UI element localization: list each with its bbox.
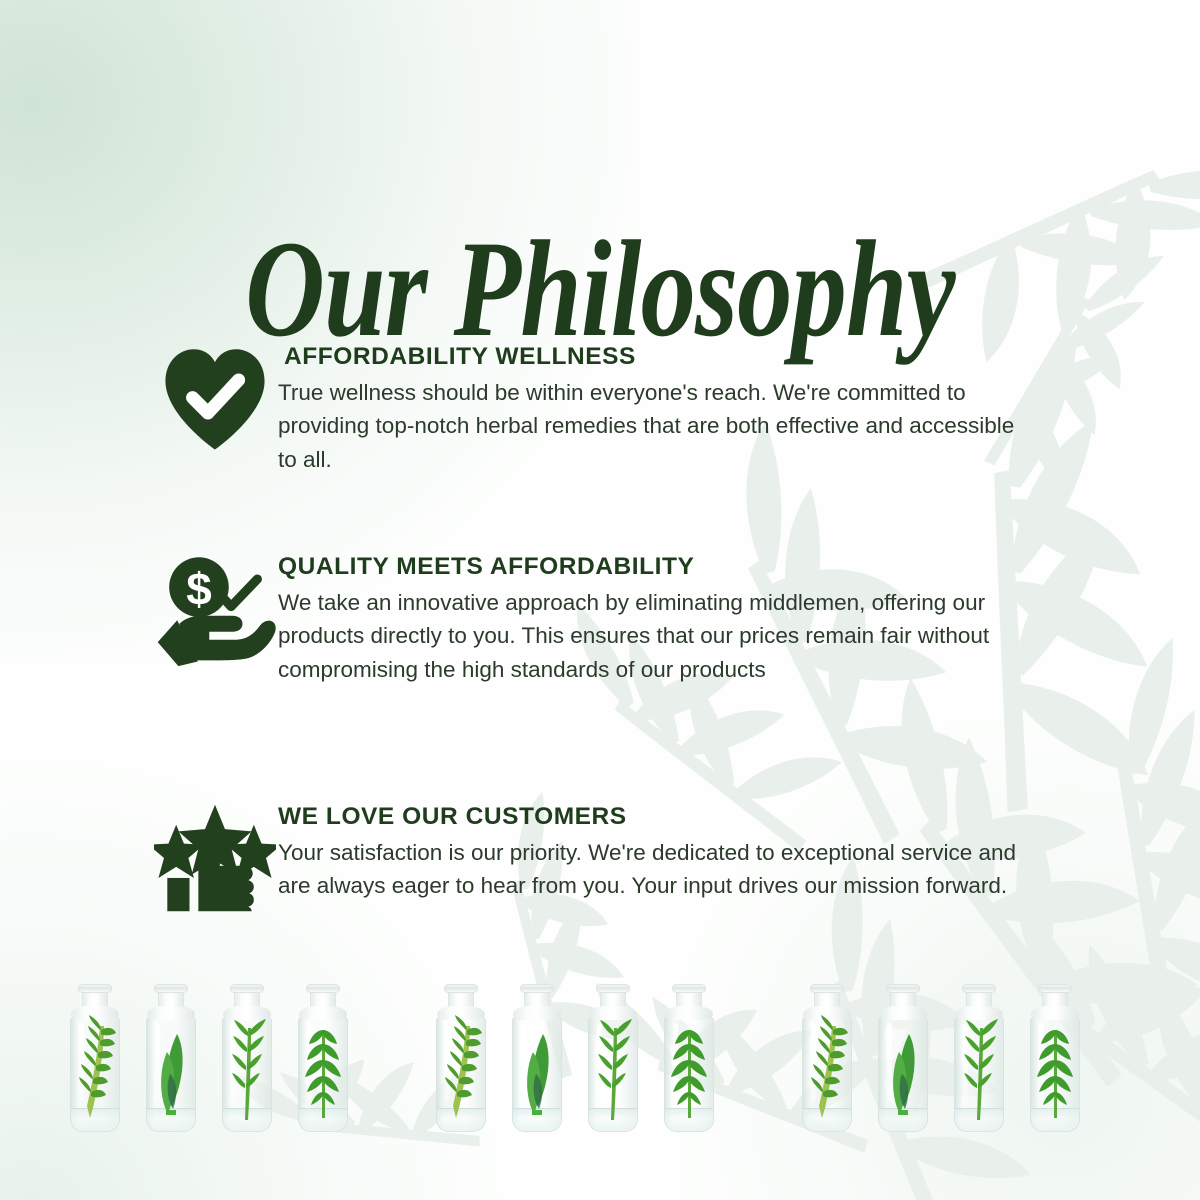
- vial-neck: [810, 984, 844, 993]
- vial-body: [878, 1016, 928, 1132]
- page-title: Our Philosophy: [120, 220, 1080, 358]
- feature-item-affordability-wellness: AFFORDABILITY WELLNESS True wellness sho…: [152, 341, 1112, 476]
- vial-shoulder: [223, 1006, 271, 1020]
- vial-shoulder: [665, 1006, 713, 1020]
- vial-shoulder: [437, 1006, 485, 1020]
- vial-neck: [962, 984, 996, 993]
- vial-broad-leaf: [140, 984, 202, 1134]
- herb-vial-strip: [0, 984, 1200, 1144]
- vial-fern-sprig: [64, 984, 126, 1134]
- vial-glare: [811, 1023, 816, 1101]
- vial-glare: [445, 1023, 450, 1101]
- vial-shoulder: [589, 1006, 637, 1020]
- vial-neck: [230, 984, 264, 993]
- feature-body: WE LOVE OUR CUSTOMERS Your satisfaction …: [278, 801, 1112, 903]
- vial-glare: [231, 1023, 236, 1101]
- vial-thin-sprig: [582, 984, 644, 1134]
- vial-glare: [79, 1023, 84, 1101]
- vial-broad-leaf: [506, 984, 568, 1134]
- vial-group: [64, 984, 354, 1144]
- vial-water: [513, 1108, 561, 1131]
- vial-glare: [1039, 1023, 1044, 1101]
- vial-water: [665, 1108, 713, 1131]
- vial-glare: [597, 1023, 602, 1101]
- vial-group: [796, 984, 1086, 1144]
- feature-heading: WE LOVE OUR CUSTOMERS: [278, 803, 1112, 831]
- feature-heading: AFFORDABILITY WELLNESS: [278, 343, 1112, 371]
- hand-holding-coin-check-icon: $: [152, 551, 278, 669]
- vial-feathered-fern: [292, 984, 354, 1134]
- vial-body: [588, 1016, 638, 1132]
- vial-feathered-fern: [658, 984, 720, 1134]
- vial-shoulder: [71, 1006, 119, 1020]
- feature-body: AFFORDABILITY WELLNESS True wellness sho…: [278, 341, 1112, 476]
- feature-text: True wellness should be within everyone'…: [278, 376, 1038, 476]
- svg-text:$: $: [186, 563, 211, 614]
- vial-body: [70, 1016, 120, 1132]
- vial-water: [1031, 1108, 1079, 1131]
- vial-shoulder: [1031, 1006, 1079, 1020]
- feature-item-we-love-our-customers: WE LOVE OUR CUSTOMERS Your satisfaction …: [152, 801, 1112, 915]
- vial-thin-sprig: [216, 984, 278, 1134]
- vial-body: [146, 1016, 196, 1132]
- vial-water: [299, 1108, 347, 1131]
- vial-glare: [521, 1023, 526, 1101]
- vial-shoulder: [803, 1006, 851, 1020]
- vial-feathered-fern: [1024, 984, 1086, 1134]
- vial-fern-sprig: [430, 984, 492, 1134]
- vial-water: [803, 1108, 851, 1131]
- vial-body: [512, 1016, 562, 1132]
- vial-water: [589, 1108, 637, 1131]
- heart-check-icon: [152, 341, 278, 459]
- vial-neck: [78, 984, 112, 993]
- feature-item-quality-meets-affordability: $ QUALITY MEETS AFFORDABILITY We take an…: [152, 551, 1112, 686]
- vial-body: [802, 1016, 852, 1132]
- vial-glare: [963, 1023, 968, 1101]
- vial-shoulder: [513, 1006, 561, 1020]
- vial-neck: [1038, 984, 1072, 993]
- vial-neck: [306, 984, 340, 993]
- vial-water: [71, 1108, 119, 1131]
- vial-glare: [673, 1023, 678, 1101]
- vial-body: [664, 1016, 714, 1132]
- vial-glare: [887, 1023, 892, 1101]
- vial-body: [954, 1016, 1004, 1132]
- vial-shoulder: [147, 1006, 195, 1020]
- feature-body: QUALITY MEETS AFFORDABILITY We take an i…: [278, 551, 1112, 686]
- vial-body: [222, 1016, 272, 1132]
- vial-glare: [307, 1023, 312, 1101]
- stars-thumbs-up-icon: [152, 801, 278, 915]
- vial-neck: [886, 984, 920, 993]
- vial-neck: [672, 984, 706, 993]
- vial-group: [430, 984, 720, 1144]
- vial-shoulder: [299, 1006, 347, 1020]
- feature-text: We take an innovative approach by elimin…: [278, 586, 1038, 686]
- vial-glare: [155, 1023, 160, 1101]
- vial-body: [1030, 1016, 1080, 1132]
- vial-water: [147, 1108, 195, 1131]
- vial-water: [879, 1108, 927, 1131]
- vial-neck: [154, 984, 188, 993]
- vial-broad-leaf: [872, 984, 934, 1134]
- vial-neck: [596, 984, 630, 993]
- vial-body: [436, 1016, 486, 1132]
- vial-water: [223, 1108, 271, 1131]
- vial-fern-sprig: [796, 984, 858, 1134]
- feature-heading: QUALITY MEETS AFFORDABILITY: [278, 553, 1112, 581]
- vial-neck: [444, 984, 478, 993]
- vial-shoulder: [879, 1006, 927, 1020]
- vial-thin-sprig: [948, 984, 1010, 1134]
- vial-neck: [520, 984, 554, 993]
- feature-text: Your satisfaction is our priority. We're…: [278, 836, 1038, 903]
- vial-body: [298, 1016, 348, 1132]
- vial-water: [437, 1108, 485, 1131]
- vial-shoulder: [955, 1006, 1003, 1020]
- philosophy-page: Our Philosophy AFFORDABILITY WELLNESS Tr…: [0, 0, 1200, 1200]
- vial-water: [955, 1108, 1003, 1131]
